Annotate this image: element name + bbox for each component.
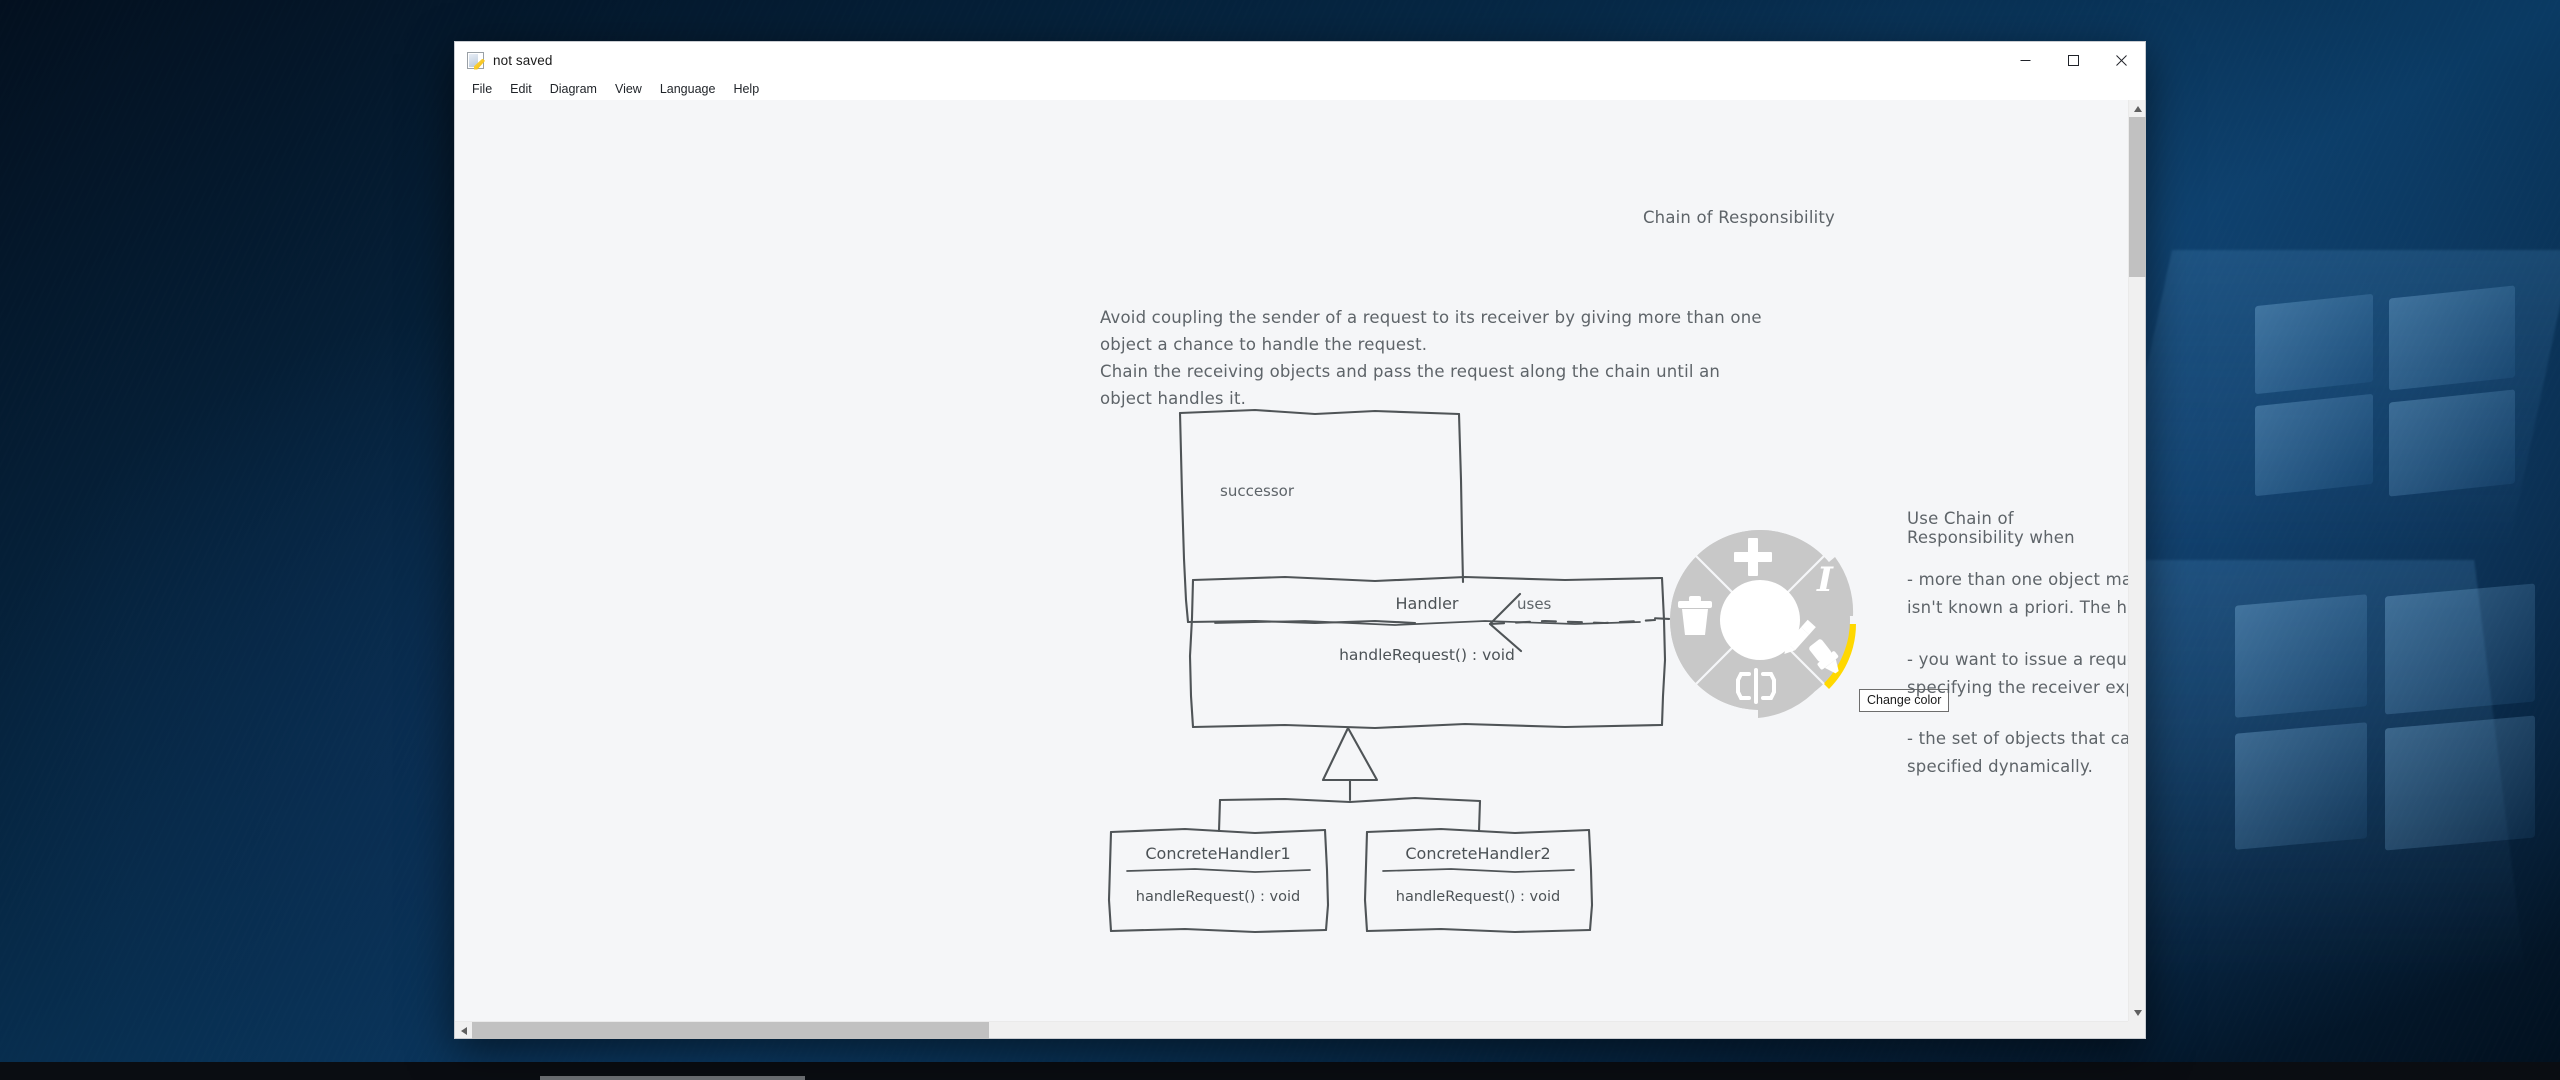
uml-class-concretehandler2[interactable]: ConcreteHandler2 handleRequest() : void	[1365, 829, 1591, 932]
vertical-scrollbar[interactable]	[2128, 100, 2145, 1021]
menu-item-diagram[interactable]: Diagram	[541, 80, 606, 99]
usage-heading: Use Chain of Responsibility when	[1907, 509, 2128, 547]
minimize-button[interactable]	[2001, 42, 2049, 78]
menu-item-view[interactable]: View	[606, 80, 651, 99]
usage-bullet: - more than one object may handle a requ…	[1907, 566, 2128, 622]
vertical-scrollbar-thumb[interactable]	[2129, 117, 2146, 277]
chevron-down-icon[interactable]	[2129, 1004, 2146, 1021]
title-bar[interactable]: not saved	[455, 42, 2145, 78]
document-pencil-icon	[467, 52, 484, 69]
horizontal-scrollbar-thumb[interactable]	[472, 1022, 989, 1039]
chevron-left-icon[interactable]	[455, 1022, 472, 1039]
usage-bullet: - the set of objects that can handle a r…	[1907, 725, 2128, 781]
application-window: not saved File Edit Diagram	[455, 42, 2145, 1038]
window-controls	[2001, 42, 2145, 78]
chevron-up-icon[interactable]	[2129, 100, 2146, 117]
scrollbar-corner	[2128, 1021, 2145, 1038]
menu-item-language[interactable]: Language	[651, 80, 725, 99]
uml-class-operation: handleRequest() : void	[1191, 646, 1663, 664]
usage-bullet: - you want to issue a request to one of …	[1907, 646, 2128, 702]
uml-class-operation: handleRequest() : void	[1365, 889, 1591, 905]
menu-item-file[interactable]: File	[463, 80, 501, 99]
uml-class-name: ConcreteHandler1	[1109, 844, 1327, 863]
radial-menu-segments	[1668, 528, 1868, 728]
uml-class-name: ConcreteHandler2	[1365, 844, 1591, 863]
taskbar-active-item[interactable]	[540, 1076, 805, 1080]
menu-item-help[interactable]: Help	[724, 80, 768, 99]
uml-class-name: Handler	[1191, 594, 1663, 613]
close-button[interactable]	[2097, 42, 2145, 78]
canvas-area: Chain of Responsibility Avoid coupling t…	[455, 100, 2145, 1021]
maximize-button[interactable]	[2049, 42, 2097, 78]
uml-class-handler[interactable]: Handler handleRequest() : void	[1191, 578, 1663, 728]
diagram-canvas[interactable]: Chain of Responsibility Avoid coupling t…	[455, 100, 2128, 1021]
menu-item-edit[interactable]: Edit	[501, 80, 541, 99]
uml-class-operation: handleRequest() : void	[1109, 889, 1327, 905]
radial-menu[interactable]: I	[1668, 528, 1868, 728]
menu-bar: File Edit Diagram View Language Help	[455, 78, 2145, 100]
uml-class-concretehandler1[interactable]: ConcreteHandler1 handleRequest() : void	[1109, 829, 1327, 932]
edge-label-uses: uses	[1517, 595, 1551, 613]
window-title: not saved	[493, 53, 552, 68]
taskbar[interactable]	[0, 1062, 2560, 1080]
edge-label-successor: successor	[1220, 482, 1294, 500]
horizontal-scrollbar[interactable]	[455, 1021, 2145, 1038]
